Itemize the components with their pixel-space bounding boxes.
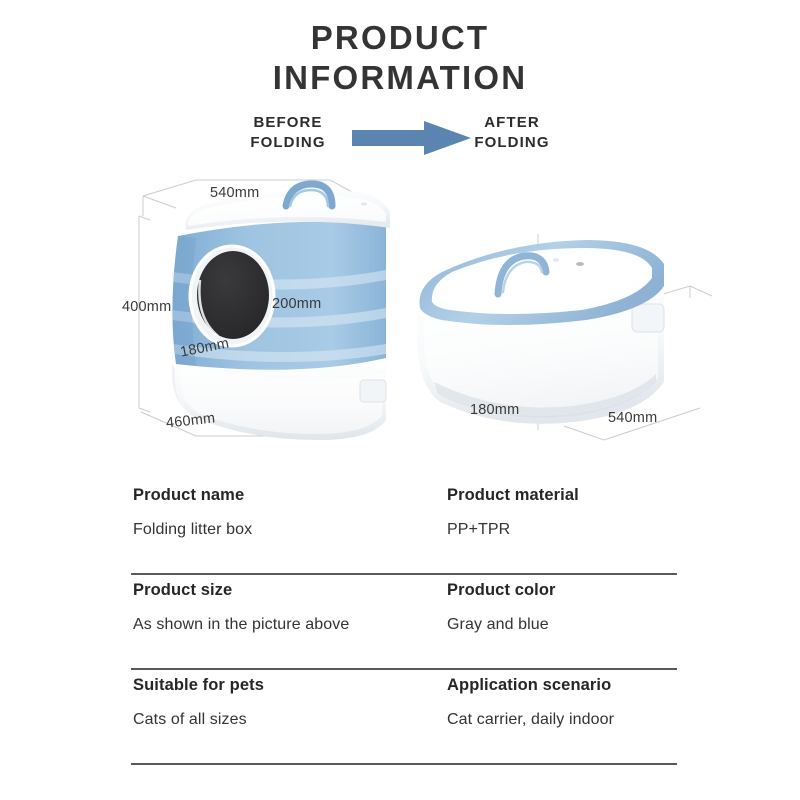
spec-cell-application-scenario: Application scenario Cat carrier, daily … <box>447 676 614 729</box>
spec-cell-product-color: Product color Gray and blue <box>447 581 556 634</box>
spec-cell-product-name: Product name Folding litter box <box>133 486 252 539</box>
spec-key: Product size <box>133 581 349 600</box>
spec-value: Gray and blue <box>447 616 556 634</box>
dimension-label-180-folded: 180mm <box>470 402 519 418</box>
dimension-label-540-top: 540mm <box>210 185 259 201</box>
folded-box-graphic <box>417 240 664 424</box>
stage-label-before: BEFORE FOLDING <box>208 113 368 153</box>
page-title: PRODUCT INFORMATION <box>0 18 800 98</box>
table-row: Product size As shown in the picture abo… <box>131 575 677 670</box>
page-title-line-1: PRODUCT <box>0 18 800 58</box>
spec-key: Suitable for pets <box>133 676 264 695</box>
right-arrow-icon <box>352 120 472 156</box>
spec-cell-product-size: Product size As shown in the picture abo… <box>133 581 349 634</box>
spec-value: Folding litter box <box>133 521 252 539</box>
spec-key: Product material <box>447 486 579 505</box>
unfolded-box-graphic <box>171 184 390 440</box>
spec-key: Product color <box>447 581 556 600</box>
spec-cell-suitable-for-pets: Suitable for pets Cats of all sizes <box>133 676 264 729</box>
table-row: Suitable for pets Cats of all sizes Appl… <box>131 670 677 765</box>
page-title-line-2: INFORMATION <box>0 58 800 98</box>
dimension-label-400-height: 400mm <box>122 299 171 315</box>
dimension-label-540-folded: 540mm <box>608 410 657 426</box>
specification-table: Product name Folding litter box Product … <box>131 480 677 765</box>
spec-cell-product-material: Product material PP+TPR <box>447 486 579 539</box>
spec-value: PP+TPR <box>447 521 579 539</box>
spec-value: Cats of all sizes <box>133 711 264 729</box>
table-row: Product name Folding litter box Product … <box>131 480 677 575</box>
product-information-page: PRODUCT INFORMATION BEFORE FOLDING AFTER… <box>0 0 800 800</box>
product-illustration-svg <box>0 168 800 468</box>
product-illustration: 540mm 400mm 200mm 180mm 460mm 180mm 540m… <box>0 168 800 468</box>
spec-key: Product name <box>133 486 252 505</box>
spec-value: As shown in the picture above <box>133 616 349 634</box>
stage-label-before-line-2: FOLDING <box>208 133 368 153</box>
dimension-label-200-door: 200mm <box>272 296 321 312</box>
spec-key: Application scenario <box>447 676 614 695</box>
stage-label-before-line-1: BEFORE <box>208 113 368 133</box>
spec-value: Cat carrier, daily indoor <box>447 711 614 729</box>
